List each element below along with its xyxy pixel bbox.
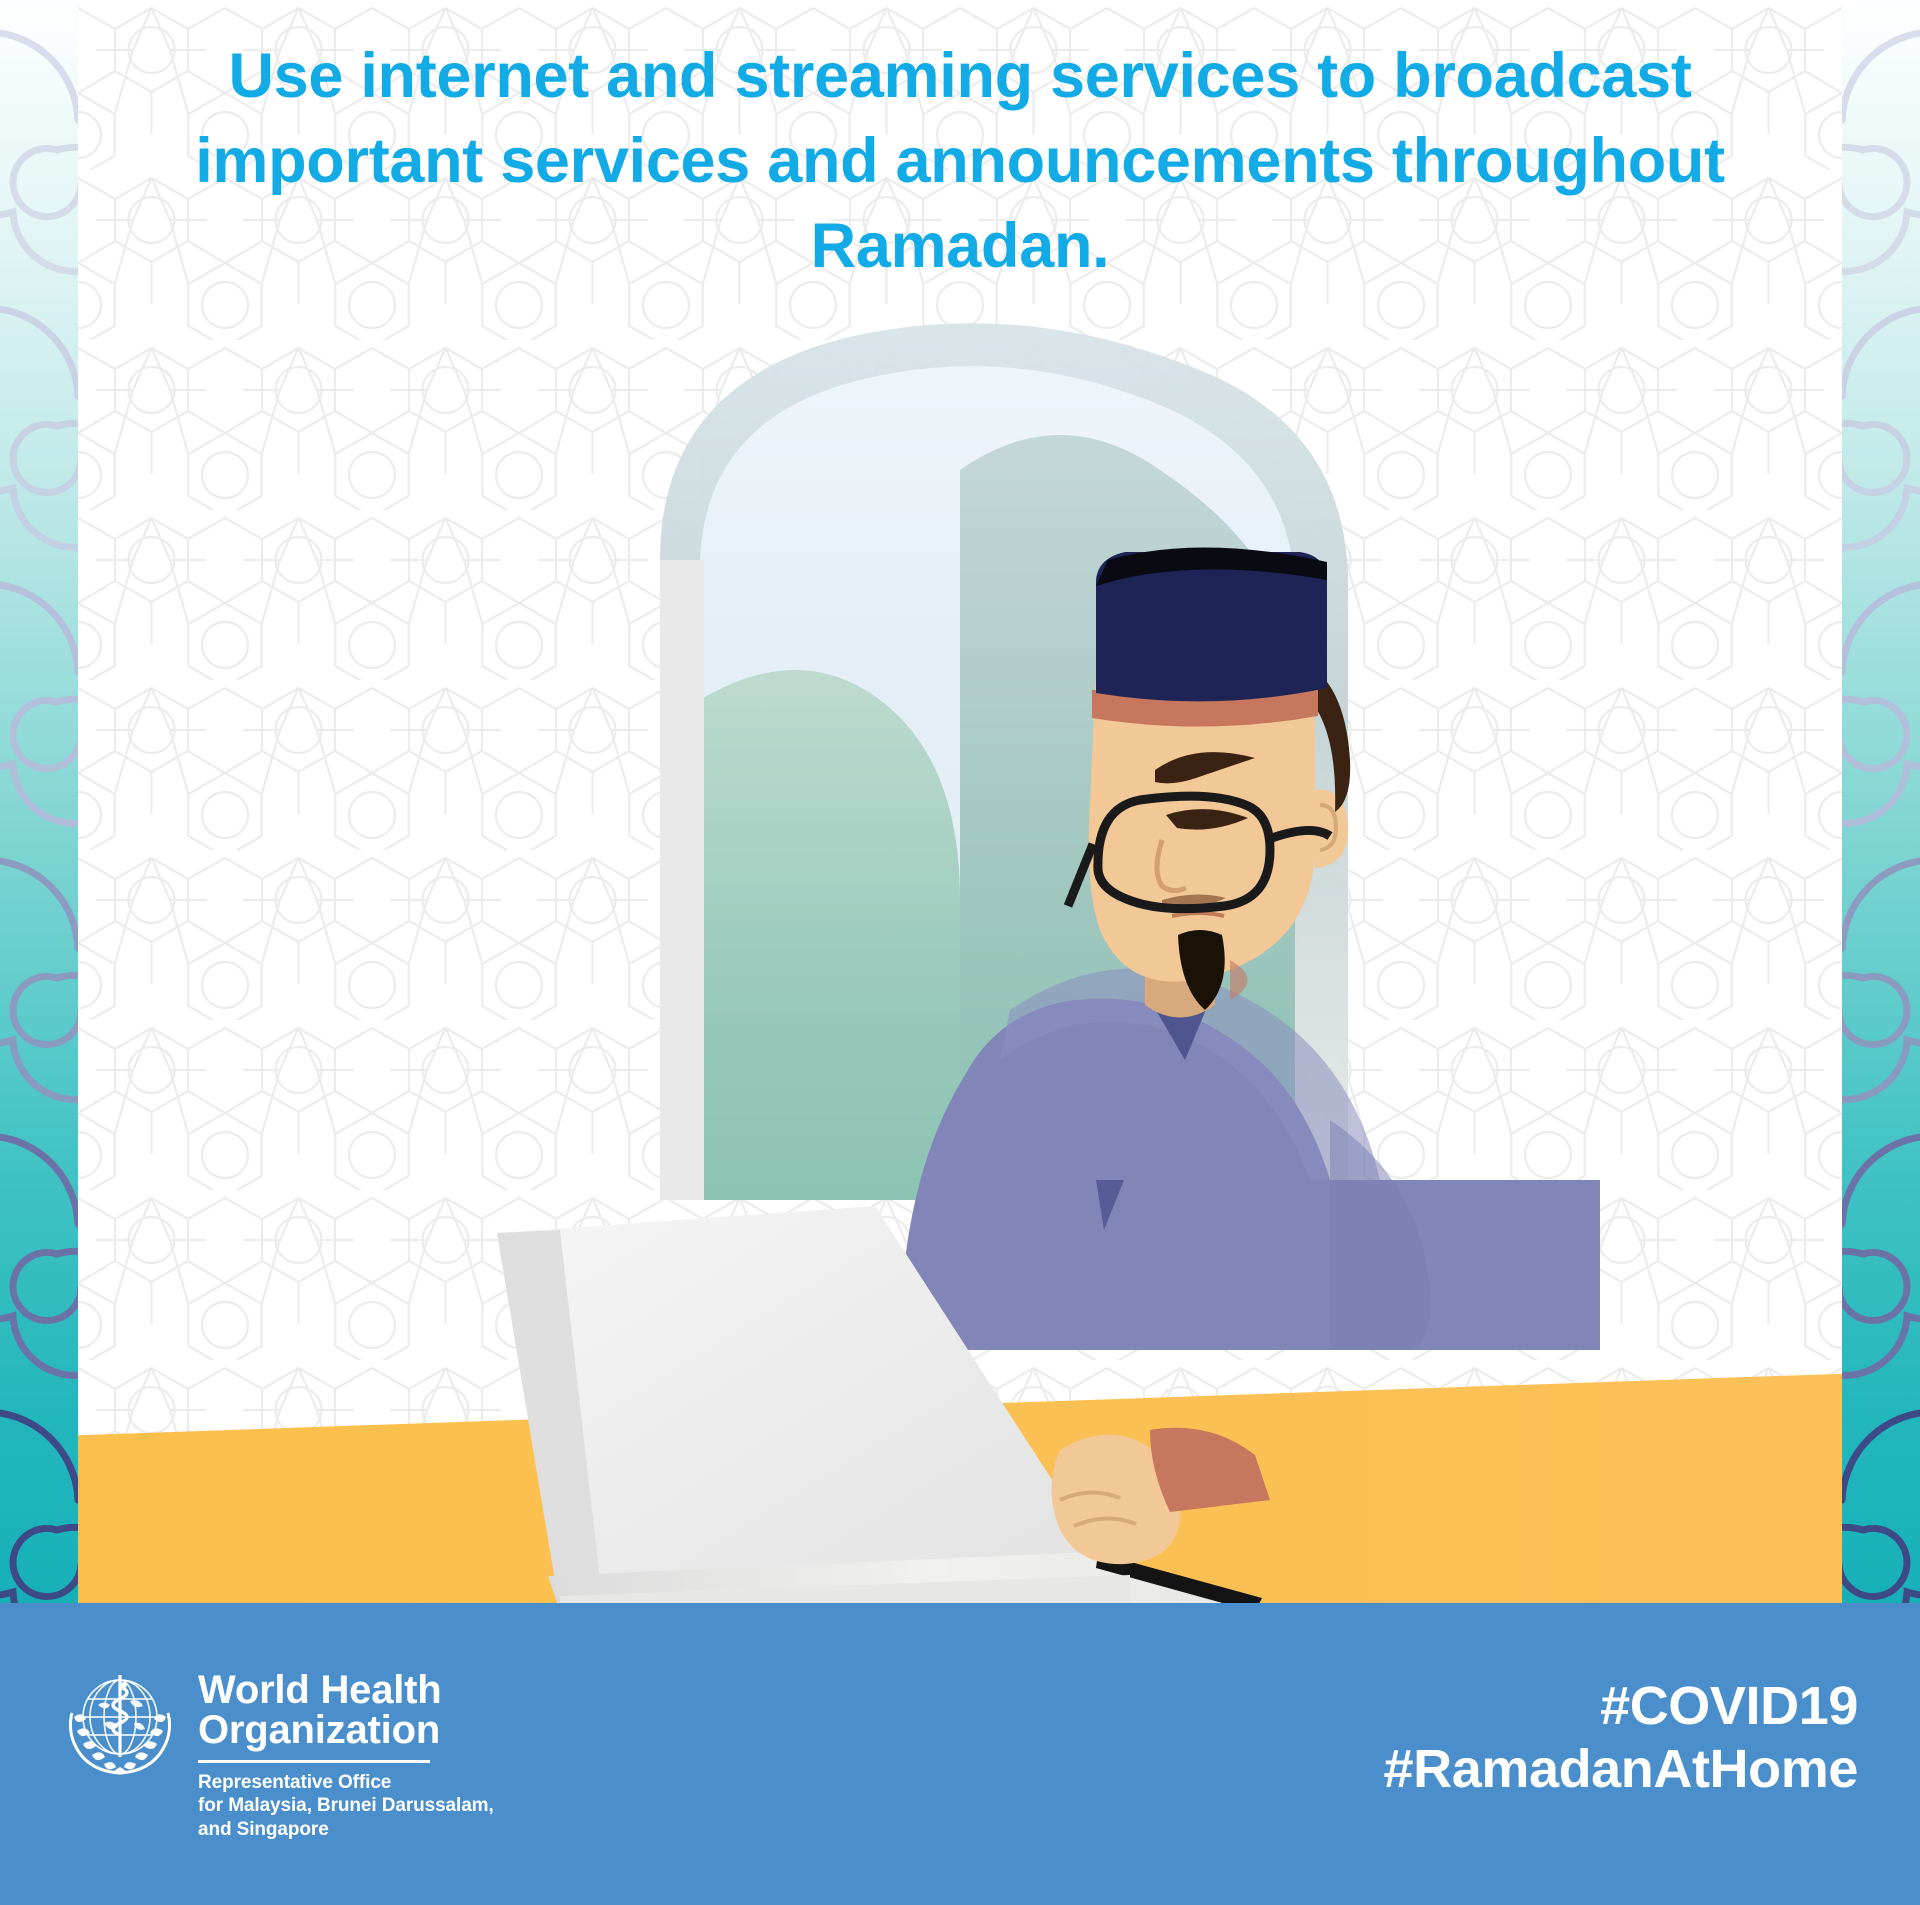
who-wordmark: World Health Organization Representative… bbox=[198, 1661, 494, 1841]
headline-text: Use internet and streaming services to b… bbox=[0, 34, 1920, 289]
who-logo-lockup: World Health Organization Representative… bbox=[58, 1661, 494, 1841]
hashtag-group: #COVID19 #RamadanAtHome bbox=[1383, 1675, 1858, 1800]
who-emblem-icon bbox=[58, 1661, 182, 1785]
who-name-line1: World Health bbox=[198, 1671, 494, 1711]
footer-bar: World Health Organization Representative… bbox=[0, 1603, 1920, 1905]
who-office-line3: and Singapore bbox=[198, 1818, 494, 1841]
hashtag-ramadanathome: #RamadanAtHome bbox=[1383, 1738, 1858, 1801]
who-name-line2: Organization bbox=[198, 1711, 494, 1751]
hashtag-covid19: #COVID19 bbox=[1383, 1675, 1858, 1738]
who-divider bbox=[198, 1760, 430, 1763]
who-office-line1: Representative Office bbox=[198, 1771, 494, 1794]
songkok-cap bbox=[1096, 547, 1327, 701]
who-office-line2: for Malaysia, Brunei Darussalam, bbox=[198, 1794, 494, 1817]
poster-canvas: Use internet and streaming services to b… bbox=[0, 0, 1920, 1905]
